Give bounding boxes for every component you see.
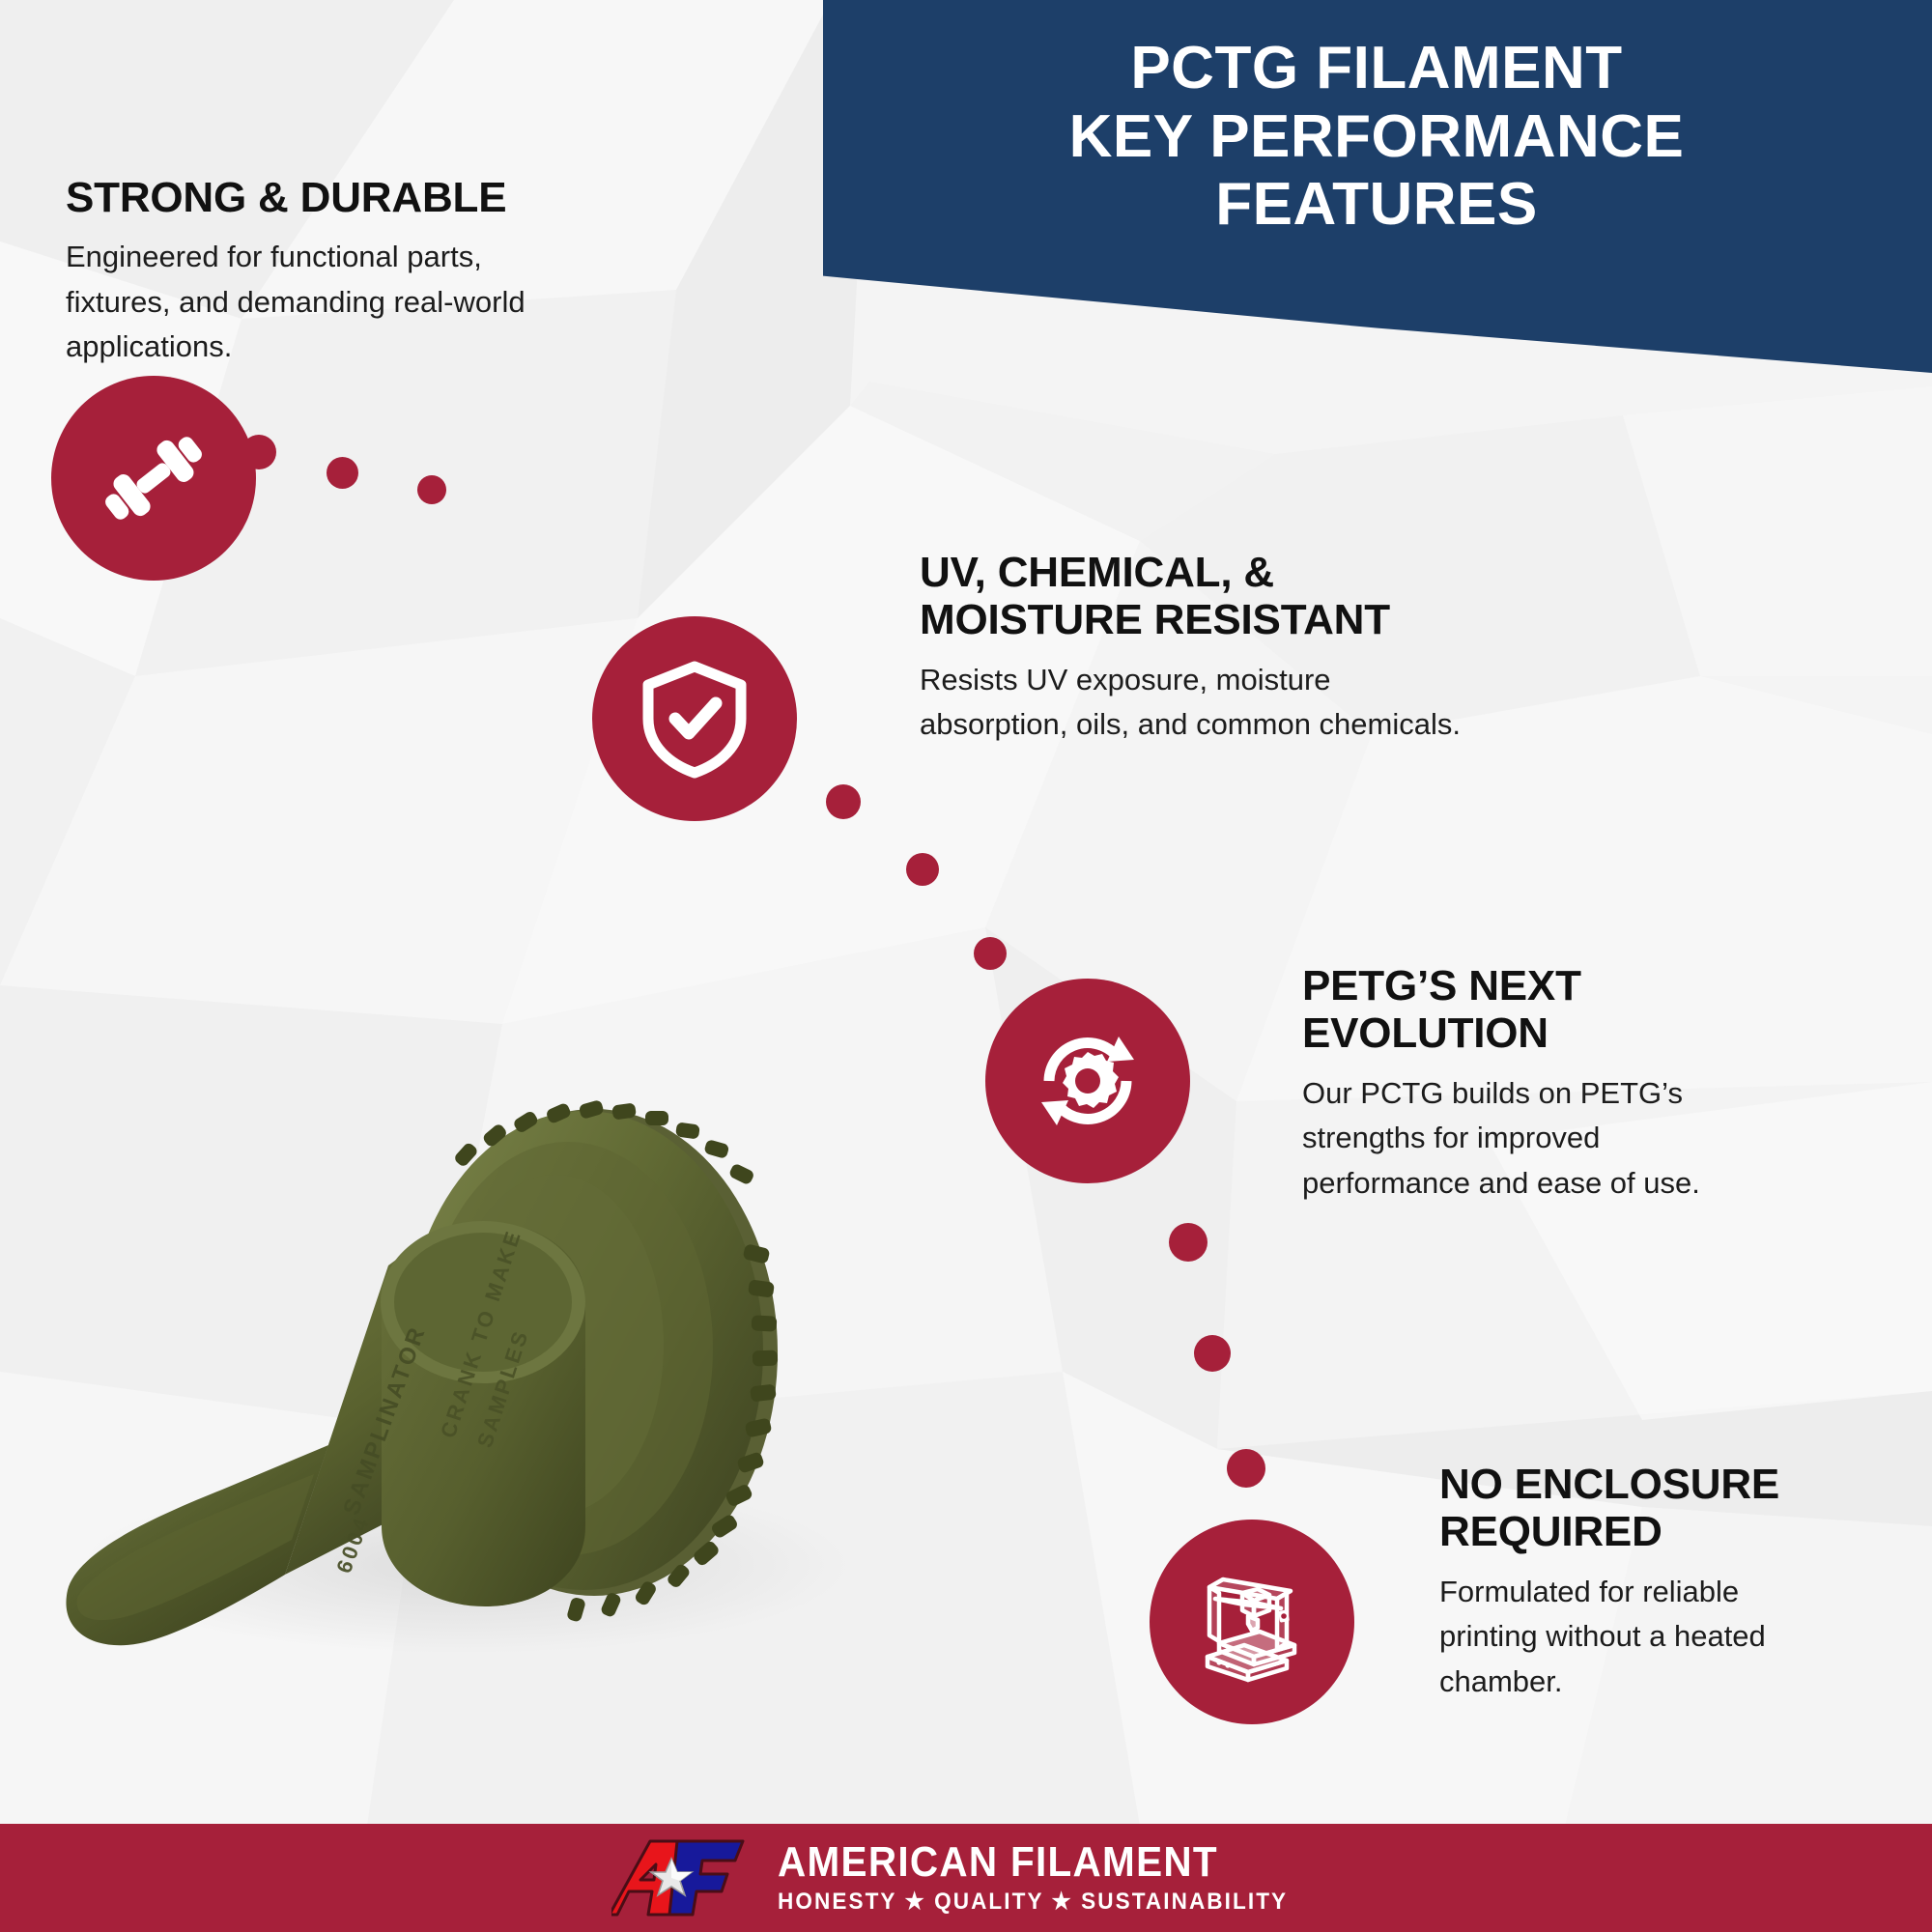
footer-content: AMERICAN FILAMENT HONESTY ★ QUALITY ★ SU…: [611, 1835, 1321, 1920]
feature-body: Resists UV exposure, moisture absorption…: [920, 658, 1538, 748]
trail-dot: [1169, 1223, 1207, 1262]
footer-brand-text: AMERICAN FILAMENT HONESTY ★ QUALITY ★ SU…: [778, 1841, 1321, 1915]
feature-title-line: MOISTURE RESISTANT: [920, 596, 1538, 643]
feature-body-line: Our PCTG builds on PETG’s: [1302, 1071, 1756, 1117]
feature-block-petg-next-evolution: PETG’S NEXT EVOLUTION Our PCTG builds on…: [1302, 962, 1756, 1206]
feature-title: PETG’S NEXT EVOLUTION: [1302, 962, 1756, 1058]
page-title: PCTG FILAMENT KEY PERFORMANCE FEATURES: [850, 35, 1903, 240]
feature-block-no-enclosure-required: NO ENCLOSURE REQUIRED Formulated for rel…: [1439, 1461, 1884, 1704]
page-title-line-1: PCTG FILAMENT: [850, 35, 1903, 103]
feature-title: STRONG & DURABLE: [66, 174, 607, 221]
feature-body-line: Resists UV exposure, moisture: [920, 658, 1538, 703]
feature-block-strong-durable: STRONG & DURABLE Engineered for function…: [66, 174, 607, 370]
feature-icon-badge-uv-chemical-moisture: [592, 616, 797, 821]
trail-dot: [826, 784, 861, 819]
trail-dot: [417, 475, 446, 504]
feature-title-line: PETG’S NEXT: [1302, 962, 1756, 1009]
feature-title-line: REQUIRED: [1439, 1508, 1884, 1555]
feature-block-uv-chemical-moisture: UV, CHEMICAL, & MOISTURE RESISTANT Resis…: [920, 549, 1538, 748]
feature-body-line: chamber.: [1439, 1660, 1884, 1705]
feature-title-line: UV, CHEMICAL, &: [920, 549, 1538, 596]
feature-body-line: strengths for improved: [1302, 1116, 1756, 1161]
trail-dot: [1194, 1335, 1231, 1372]
feature-body-line: fixtures, and demanding real-world: [66, 280, 607, 326]
trail-dot: [327, 457, 358, 489]
feature-body: Our PCTG builds on PETG’s strengths for …: [1302, 1071, 1756, 1207]
shield-check-icon: [633, 657, 756, 781]
feature-icon-badge-no-enclosure-required: [1150, 1520, 1354, 1724]
feature-title-line: EVOLUTION: [1302, 1009, 1756, 1057]
brand-name: AMERICAN FILAMENT: [778, 1841, 1277, 1885]
trail-dot: [1227, 1449, 1265, 1488]
brand-tagline: HONESTY ★ QUALITY ★ SUSTAINABILITY: [778, 1889, 1288, 1915]
trail-dot: [906, 853, 939, 886]
feature-title-line: STRONG & DURABLE: [66, 174, 607, 221]
feature-body-line: performance and ease of use.: [1302, 1161, 1756, 1207]
dumbbell-icon: [92, 416, 215, 540]
feature-title: UV, CHEMICAL, & MOISTURE RESISTANT: [920, 549, 1538, 644]
feature-body-line: applications.: [66, 325, 607, 370]
feature-body-line: Engineered for functional parts,: [66, 235, 607, 280]
product-photo-3d-printed-crank: CRANK TO MAKE SAMPLES SAMPLINATOR 6004: [39, 898, 947, 1690]
footer-bar: AMERICAN FILAMENT HONESTY ★ QUALITY ★ SU…: [0, 1824, 1932, 1932]
trail-dot: [974, 937, 1007, 970]
page-title-line-3: FEATURES: [850, 171, 1903, 240]
feature-body: Engineered for functional parts, fixture…: [66, 235, 607, 370]
feature-title: NO ENCLOSURE REQUIRED: [1439, 1461, 1884, 1556]
3d-printer-icon: [1190, 1560, 1314, 1684]
page-title-line-2: KEY PERFORMANCE: [850, 103, 1903, 172]
gear-refresh-icon: [1026, 1019, 1150, 1143]
feature-icon-badge-strong-durable: [51, 376, 256, 581]
feature-title-line: NO ENCLOSURE: [1439, 1461, 1884, 1508]
feature-body-line: printing without a heated: [1439, 1614, 1884, 1660]
american-filament-logo-icon: [611, 1835, 753, 1920]
feature-body-line: absorption, oils, and common chemicals.: [920, 702, 1538, 748]
feature-body-line: Formulated for reliable: [1439, 1570, 1884, 1615]
infographic-canvas: PCTG FILAMENT KEY PERFORMANCE FEATURES: [0, 0, 1932, 1932]
feature-body: Formulated for reliable printing without…: [1439, 1570, 1884, 1705]
feature-icon-badge-petg-next-evolution: [985, 979, 1190, 1183]
